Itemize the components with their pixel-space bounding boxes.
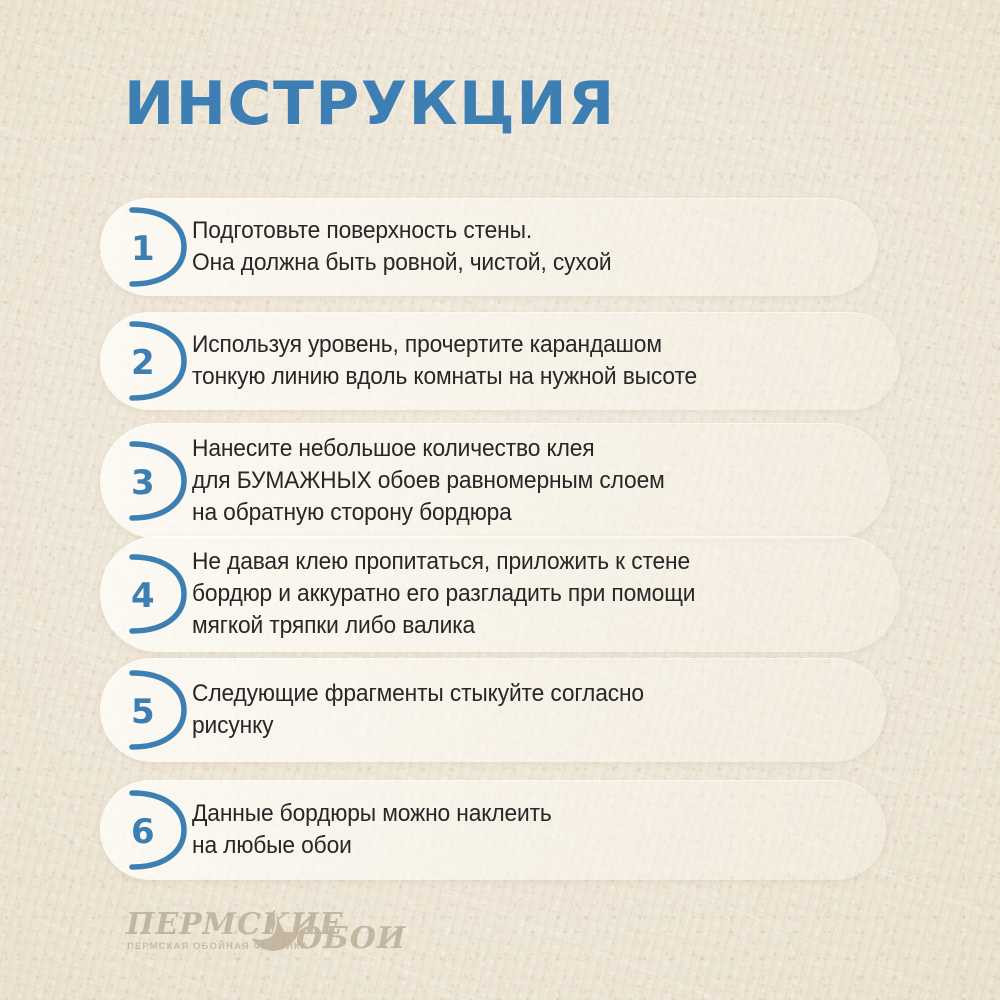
step-text-5: Следующие фрагменты стыкуйте согласно ри… — [192, 678, 837, 743]
step-item-6: 6 Данные бордюры можно наклеить на любые… — [100, 780, 886, 880]
step-item-2: 2 Используя уровень, прочертите карандаш… — [100, 312, 900, 410]
step-marker-5: 5 — [100, 658, 192, 762]
step-marker-2: 2 — [100, 312, 192, 410]
step-number-2: 2 — [131, 346, 155, 380]
step-number-3: 3 — [131, 466, 155, 500]
step-item-4: 4 Не давая клею пропитаться, приложить к… — [100, 536, 900, 652]
step-text-6: Данные бордюры можно наклеить на любые о… — [192, 798, 837, 863]
step-item-3: 3 Нанесите небольшое количество клея для… — [100, 423, 890, 539]
step-marker-3: 3 — [100, 423, 192, 539]
brand-logo: ПЕРМСКИЕ ПЕРМСКАЯ ОБОЙНАЯ ФАБРИКА ОБОИ — [126, 908, 416, 960]
step-number-5: 5 — [131, 695, 155, 729]
step-text-3: Нанесите небольшое количество клея для Б… — [192, 433, 841, 530]
step-item-5: 5 Следующие фрагменты стыкуйте согласно … — [100, 658, 886, 762]
step-marker-4: 4 — [100, 536, 192, 652]
step-item-1: 1 Подготовьте поверхность стены. Она дол… — [100, 198, 878, 296]
instruction-poster: ИНСТРУКЦИЯ 1 Подготовьте поверхность сте… — [0, 0, 1000, 1000]
step-number-6: 6 — [131, 815, 155, 849]
step-text-1: Подготовьте поверхность стены. Она должн… — [192, 215, 830, 280]
step-number-4: 4 — [131, 579, 155, 613]
step-marker-1: 1 — [100, 198, 192, 296]
step-marker-6: 6 — [100, 780, 192, 880]
step-number-1: 1 — [131, 232, 155, 266]
logo-word-oboi: ОБОИ — [296, 924, 406, 954]
step-text-4: Не давая клею пропитаться, приложить к с… — [192, 546, 850, 643]
step-text-2: Используя уровень, прочертите карандашом… — [192, 329, 850, 394]
steps-list: 1 Подготовьте поверхность стены. Она дол… — [0, 0, 1000, 1000]
